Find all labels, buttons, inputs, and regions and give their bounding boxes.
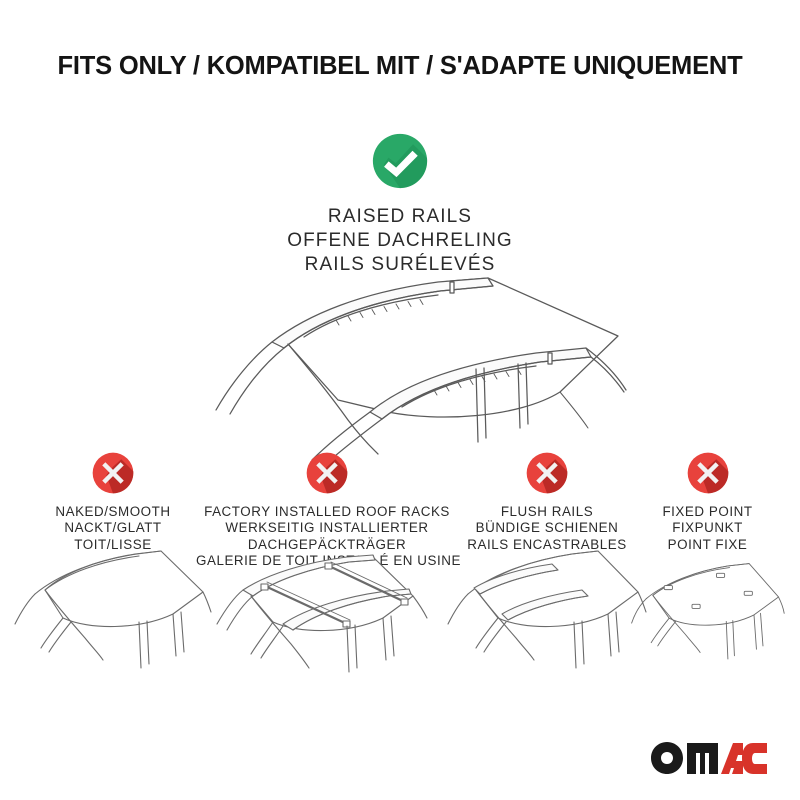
car-roof-factory-racks-illustration bbox=[196, 544, 458, 704]
label-line-1: FLUSH RAILS bbox=[446, 504, 648, 520]
x-circle-icon bbox=[306, 452, 348, 494]
incompatible-item-fixed-point: FIXED POINT FIXPUNKT POINT FIXE bbox=[630, 452, 785, 553]
label-line-2: WERKSEITIG INSTALLIERTER bbox=[196, 520, 458, 536]
compatible-labels: RAISED RAILS OFFENE DACHRELING RAILS SUR… bbox=[0, 205, 800, 277]
compatible-section: RAISED RAILS OFFENE DACHRELING RAILS SUR… bbox=[0, 133, 800, 277]
omac-logo bbox=[648, 738, 770, 778]
incompatible-section: NAKED/SMOOTH NACKT/GLATT TOIT/LISSE bbox=[0, 452, 800, 782]
car-roof-naked-smooth-illustration bbox=[13, 544, 213, 694]
incompatible-item-factory-roof-racks: FACTORY INSTALLED ROOF RACKS WERKSEITIG … bbox=[196, 452, 458, 569]
compatible-label-en: RAISED RAILS bbox=[0, 205, 800, 229]
x-circle-icon bbox=[92, 452, 134, 494]
label-line-1: FIXED POINT bbox=[630, 504, 785, 520]
check-circle-icon bbox=[372, 133, 428, 189]
label-line-2: BÜNDIGE SCHIENEN bbox=[446, 520, 648, 536]
compatible-label-de: OFFENE DACHRELING bbox=[0, 229, 800, 253]
label-line-2: NACKT/GLATT bbox=[13, 520, 213, 536]
page-title: FITS ONLY / KOMPATIBEL MIT / S'ADAPTE UN… bbox=[0, 52, 800, 81]
label-line-1: NAKED/SMOOTH bbox=[13, 504, 213, 520]
incompatible-item-naked-smooth: NAKED/SMOOTH NACKT/GLATT TOIT/LISSE bbox=[13, 452, 213, 553]
label-line-2: FIXPUNKT bbox=[630, 520, 785, 536]
car-roof-with-raised-rails-illustration bbox=[188, 272, 628, 462]
x-circle-icon bbox=[526, 452, 568, 494]
label-line-1: FACTORY INSTALLED ROOF RACKS bbox=[196, 504, 458, 520]
x-circle-icon bbox=[687, 452, 729, 494]
car-roof-flush-rails-illustration bbox=[446, 544, 648, 694]
incompatible-item-flush-rails: FLUSH RAILS BÜNDIGE SCHIENEN RAILS ENCAS… bbox=[446, 452, 648, 553]
car-roof-fixed-point-illustration bbox=[630, 544, 785, 694]
